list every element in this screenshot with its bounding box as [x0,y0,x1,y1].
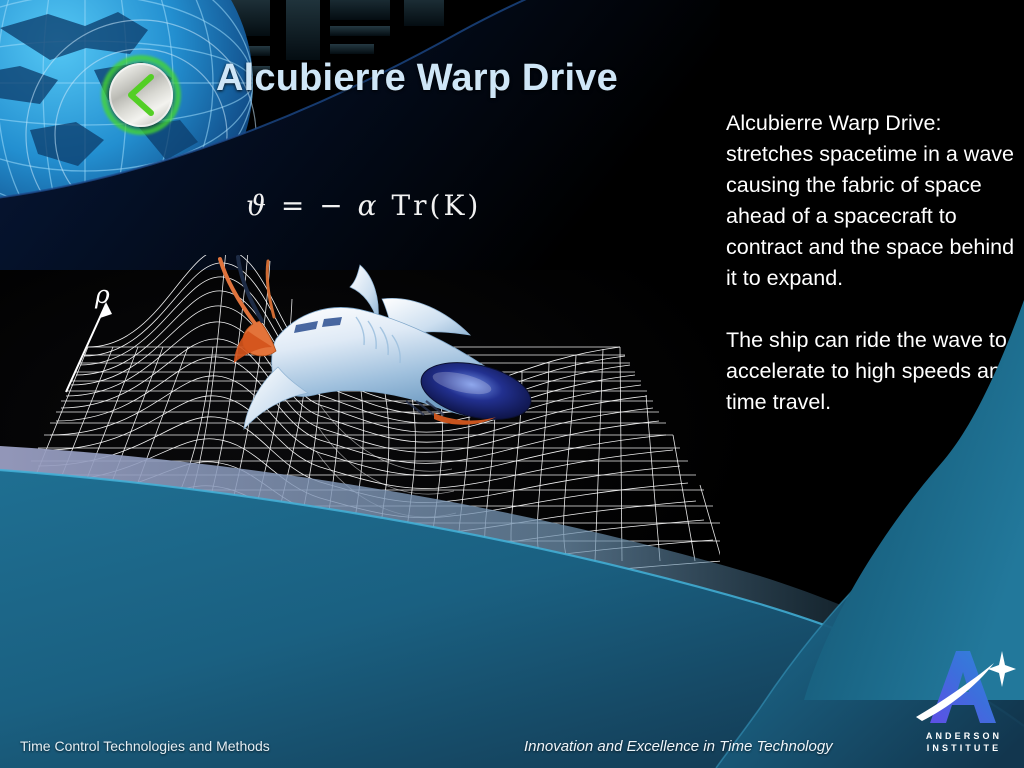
y-axis-label: ρ [95,280,110,309]
warp-equation: ϑ = − α Tr(K) [246,189,481,222]
equation-minus: − [319,189,345,222]
equation-equals: = [281,189,307,222]
logo-word-anderson: ANDERSON [912,731,1016,741]
footer-left-text: Time Control Technologies and Methods [20,738,270,754]
logo-mark-icon [912,645,1016,727]
spacecraft [220,257,536,429]
chevron-left-icon [109,63,173,127]
anderson-institute-logo: ANDERSON INSTITUTE [912,645,1016,755]
right-curve-graphic [764,300,1024,700]
body-paragraph-1: Alcubierre Warp Drive: stretches spaceti… [726,108,1016,294]
equation-trace: Tr(K) [392,189,482,222]
footer-tagline: Innovation and Excellence in Time Techno… [524,738,833,755]
equation-alpha: α [358,189,380,222]
slide-canvas: Alcubierre Warp Drive ϑ = − α Tr(K) [0,0,1024,768]
page-title: Alcubierre Warp Drive [216,57,618,100]
equation-theta: ϑ [246,189,269,222]
back-button[interactable] [96,50,186,140]
logo-word-institute: INSTITUTE [912,743,1016,753]
